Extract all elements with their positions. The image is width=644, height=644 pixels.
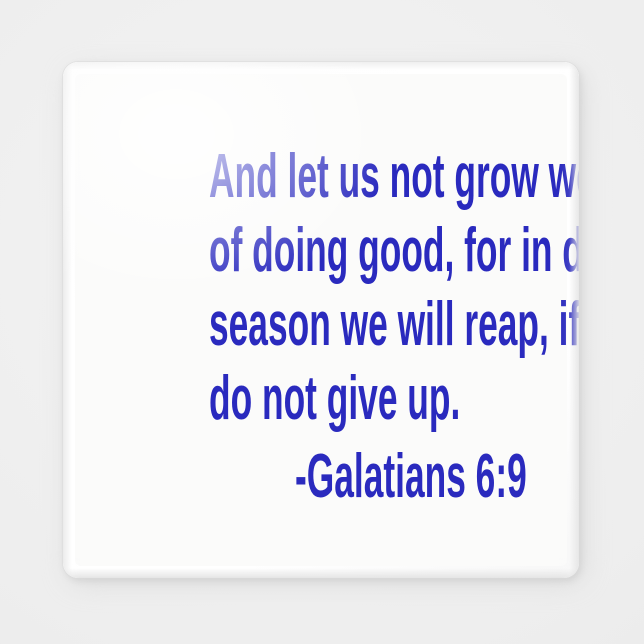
- quote-attribution: -Galatians 6:9: [295, 440, 523, 514]
- quote-line-2: of doing good, for in due: [209, 214, 437, 288]
- product-photo-canvas: And let us not grow weary of doing good,…: [0, 0, 644, 644]
- attribution-row: -Galatians 6:9: [123, 440, 523, 514]
- square-magnet-product[interactable]: And let us not grow weary of doing good,…: [63, 62, 579, 578]
- quote-text-block: And let us not grow weary of doing good,…: [123, 140, 523, 514]
- quote-line-4: do not give up.: [209, 362, 437, 436]
- quote-line-3: season we will reap, if we: [209, 288, 437, 362]
- quote-line-1: And let us not grow weary: [209, 140, 437, 214]
